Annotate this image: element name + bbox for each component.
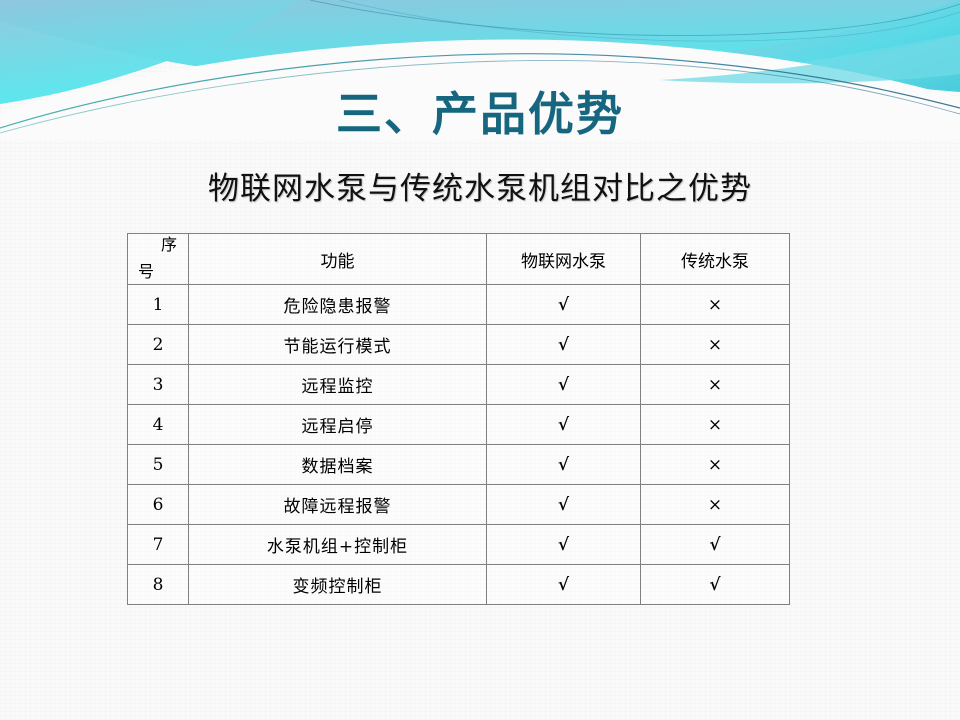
- slide-canvas: 三、产品优势 物联网水泵与传统水泵机组对比之优势 序 号 功能 物联网水泵 传统: [0, 0, 960, 720]
- cell-traditional-mark: ×: [641, 285, 790, 325]
- cell-traditional-mark: ×: [641, 445, 790, 485]
- cell-row-number: 7: [128, 525, 189, 565]
- header-cell-iot-pump: 物联网水泵: [487, 234, 641, 285]
- header-cell-sequence: 序 号: [128, 234, 189, 285]
- header-sequence-bottom: 号: [138, 264, 154, 280]
- page-title: 三、产品优势: [0, 88, 960, 141]
- header-sequence-top: 序: [161, 237, 177, 253]
- table-row: 4 远程启停 √ ×: [128, 405, 790, 445]
- page-subtitle: 物联网水泵与传统水泵机组对比之优势: [0, 163, 960, 208]
- table-header-row: 序 号 功能 物联网水泵 传统水泵: [128, 234, 790, 285]
- table-row: 5 数据档案 √ ×: [128, 445, 790, 485]
- cell-row-number: 6: [128, 485, 189, 525]
- cell-row-number: 3: [128, 365, 189, 405]
- cell-iot-mark: √: [487, 405, 641, 445]
- table-row: 7 水泵机组+控制柜 √ √: [128, 525, 790, 565]
- comparison-table-container: 序 号 功能 物联网水泵 传统水泵 1 危险隐患报警 √ × 2 节能运行模式: [127, 233, 789, 605]
- table-row: 6 故障远程报警 √ ×: [128, 485, 790, 525]
- cell-row-number: 1: [128, 285, 189, 325]
- header-cell-traditional-pump: 传统水泵: [641, 234, 790, 285]
- cell-function-name: 远程监控: [189, 365, 487, 405]
- cell-function-name: 变频控制柜: [189, 565, 487, 605]
- cell-function-name: 危险隐患报警: [189, 285, 487, 325]
- cell-function-name: 节能运行模式: [189, 325, 487, 365]
- cell-row-number: 8: [128, 565, 189, 605]
- cell-row-number: 2: [128, 325, 189, 365]
- header-cell-function: 功能: [189, 234, 487, 285]
- cell-iot-mark: √: [487, 445, 641, 485]
- cell-function-name: 远程启停: [189, 405, 487, 445]
- cell-function-name: 故障远程报警: [189, 485, 487, 525]
- cell-traditional-mark: ×: [641, 365, 790, 405]
- cell-iot-mark: √: [487, 285, 641, 325]
- table-row: 3 远程监控 √ ×: [128, 365, 790, 405]
- cell-function-name: 数据档案: [189, 445, 487, 485]
- cell-traditional-mark: ×: [641, 405, 790, 445]
- table-row: 2 节能运行模式 √ ×: [128, 325, 790, 365]
- cell-function-name: 水泵机组+控制柜: [189, 525, 487, 565]
- cell-iot-mark: √: [487, 365, 641, 405]
- cell-traditional-mark: √: [641, 525, 790, 565]
- cell-traditional-mark: ×: [641, 485, 790, 525]
- cell-row-number: 5: [128, 445, 189, 485]
- table-row: 1 危险隐患报警 √ ×: [128, 285, 790, 325]
- table-row: 8 变频控制柜 √ √: [128, 565, 790, 605]
- cell-iot-mark: √: [487, 485, 641, 525]
- cell-iot-mark: √: [487, 325, 641, 365]
- cell-traditional-mark: ×: [641, 325, 790, 365]
- cell-iot-mark: √: [487, 525, 641, 565]
- cell-traditional-mark: √: [641, 565, 790, 605]
- comparison-table: 序 号 功能 物联网水泵 传统水泵 1 危险隐患报警 √ × 2 节能运行模式: [127, 233, 790, 605]
- cell-row-number: 4: [128, 405, 189, 445]
- cell-iot-mark: √: [487, 565, 641, 605]
